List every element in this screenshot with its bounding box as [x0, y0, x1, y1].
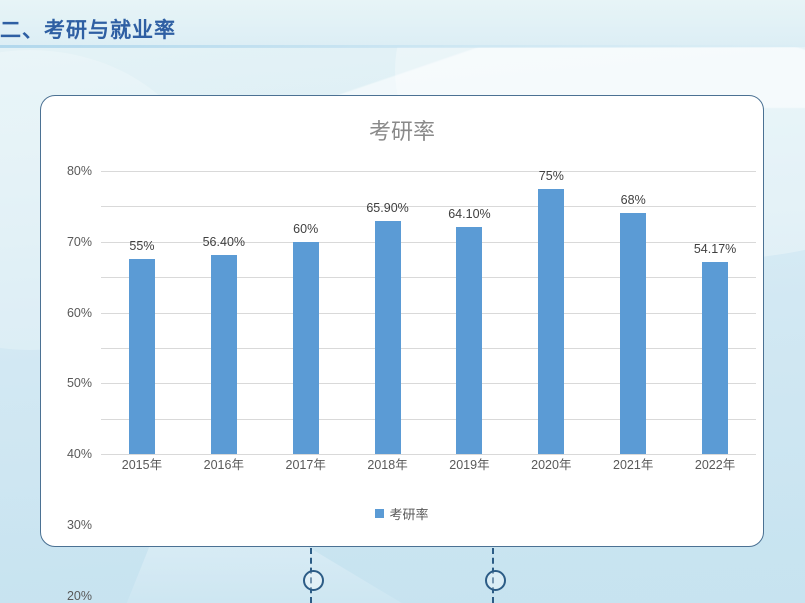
chart-bar-value-label: 68% — [621, 193, 646, 207]
chart-bar-group: 60% — [265, 171, 347, 454]
chart-bar-value-label: 54.17% — [694, 242, 736, 256]
chart-bars: 55%56.40%60%65.90%64.10%75%68%54.17% — [101, 171, 756, 454]
chart-plot-area: 80%70%60%50%40%30%20%10%0% 55%56.40%60%6… — [101, 171, 756, 454]
chart-bar-group: 54.17% — [674, 171, 756, 454]
chart-bar-group: 68% — [592, 171, 674, 454]
chart-bar-group: 55% — [101, 171, 183, 454]
chart-bar-group: 65.90% — [347, 171, 429, 454]
background-top-divider — [0, 45, 805, 48]
chart-bar-value-label: 55% — [129, 239, 154, 253]
chart-bar-value-label: 65.90% — [366, 201, 408, 215]
chart-card: 考研率 80%70%60%50%40%30%20%10%0% 55%56.40%… — [40, 95, 764, 547]
chart-x-tick-label: 2016年 — [183, 454, 265, 473]
chart-bar[interactable] — [293, 242, 319, 454]
chart-y-tick-label: 40% — [67, 447, 92, 461]
chart-title: 考研率 — [41, 114, 763, 146]
chart-bar[interactable] — [702, 262, 728, 454]
legend-item-label: 考研率 — [389, 504, 428, 523]
chart-x-tick-label: 2022年 — [674, 454, 756, 473]
chart-bar-value-label: 75% — [539, 169, 564, 183]
timeline-dot-marker[interactable] — [303, 570, 324, 591]
chart-bar[interactable] — [456, 227, 482, 454]
chart-bar-group: 75% — [510, 171, 592, 454]
chart-x-tick-label: 2018年 — [347, 454, 429, 473]
chart-x-tick-label: 2015年 — [101, 454, 183, 473]
chart-y-tick-label: 20% — [67, 589, 92, 603]
chart-y-tick-label: 80% — [67, 164, 92, 178]
slide-canvas: 二、考研与就业率 考研率 80%70%60%50%40%30%20%10%0% … — [0, 0, 805, 603]
chart-bar-value-label: 64.10% — [448, 207, 490, 221]
chart-x-tick-label: 2017年 — [265, 454, 347, 473]
timeline-dot-marker[interactable] — [485, 570, 506, 591]
legend-swatch-icon — [375, 509, 384, 518]
chart-x-tick-label: 2019年 — [429, 454, 511, 473]
chart-bar-group: 56.40% — [183, 171, 265, 454]
chart-bar[interactable] — [211, 255, 237, 455]
chart-bar-group: 64.10% — [429, 171, 511, 454]
chart-bar[interactable] — [538, 189, 564, 454]
chart-y-tick-label: 60% — [67, 306, 92, 320]
chart-y-tick-label: 70% — [67, 235, 92, 249]
chart-x-tick-label: 2021年 — [592, 454, 674, 473]
chart-x-tick-label: 2020年 — [510, 454, 592, 473]
chart-bar[interactable] — [620, 213, 646, 454]
chart-bar-value-label: 56.40% — [203, 235, 245, 249]
chart-y-tick-label: 50% — [67, 376, 92, 390]
chart-x-axis: 2015年2016年2017年2018年2019年2020年2021年2022年 — [101, 454, 756, 473]
chart-bar[interactable] — [375, 221, 401, 454]
chart-bar[interactable] — [129, 259, 155, 454]
page-title: 二、考研与就业率 — [0, 14, 176, 44]
chart-legend: 考研率 — [41, 504, 763, 523]
chart-bar-value-label: 60% — [293, 222, 318, 236]
